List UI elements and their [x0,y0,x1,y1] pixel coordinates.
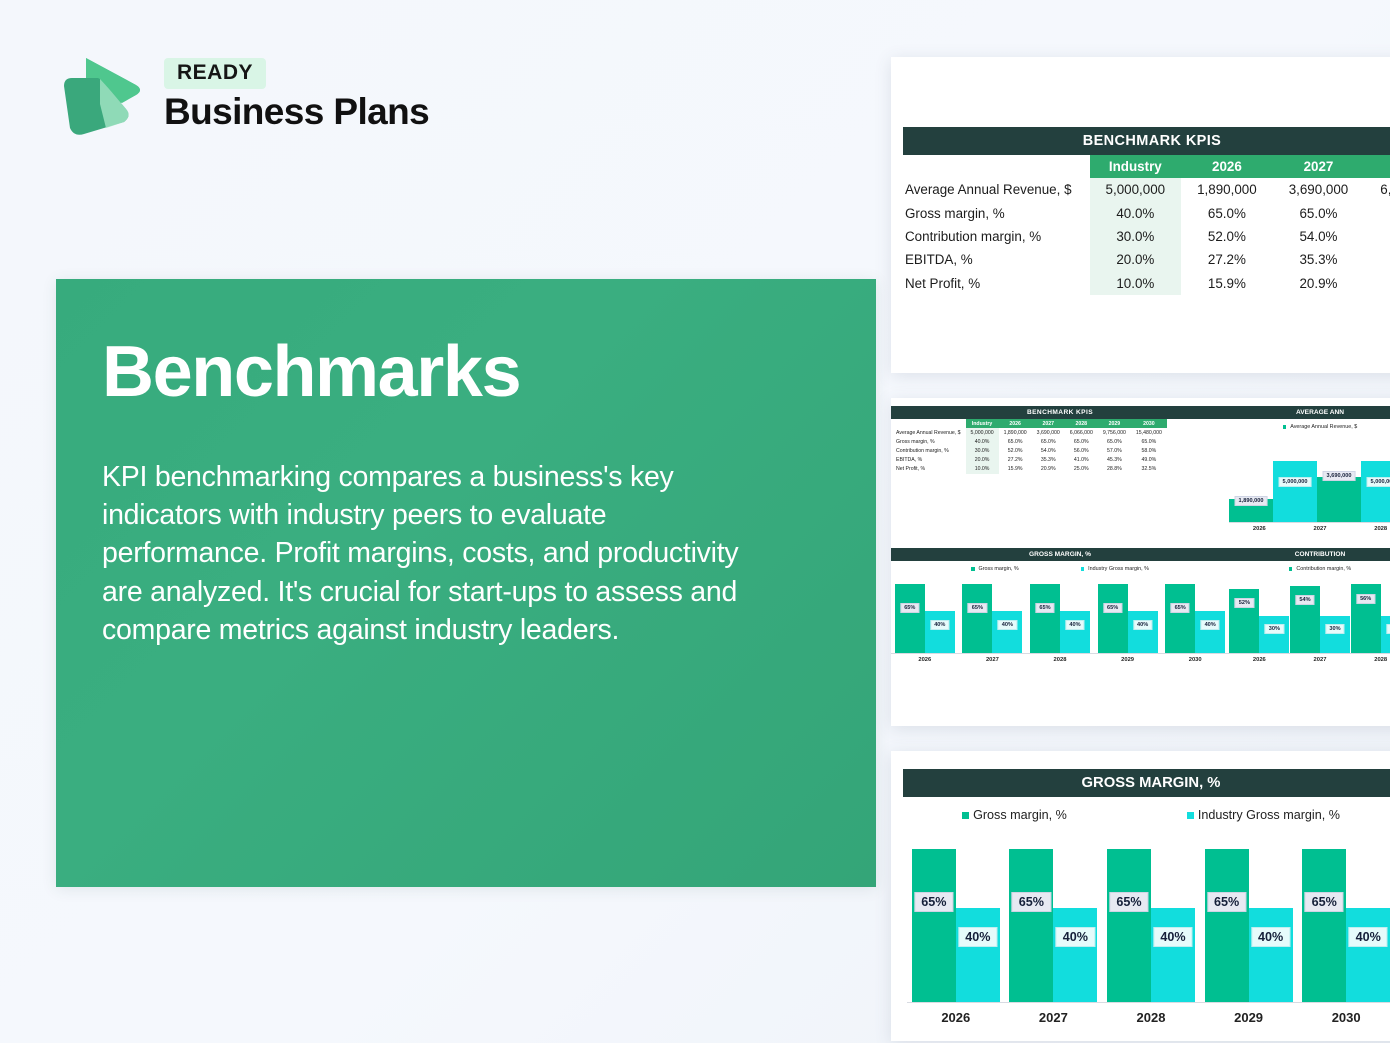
row-label: Net Profit, % [903,272,1090,295]
chart-title: GROSS MARGIN, % [891,548,1229,561]
brand-logo[interactable]: READY Business Plans [56,52,429,138]
bar-company: 65% [962,584,992,653]
dashboard-card[interactable]: BENCHMARK KPIS Industry20262027202820292… [891,398,1390,726]
table-cell: 10.0% [1090,272,1182,295]
bar-company: 65% [895,584,925,653]
bar-group: 65%40% [1008,849,1098,1002]
legend-item: Contribution margin, % [1289,566,1351,572]
chart-legend: Contribution margin, % [1229,566,1390,572]
row-label: Net Profit, % [891,465,966,474]
legend-swatch-industry [1081,567,1085,571]
table-row: Gross margin, %40.0%65.0%65.0%65.0%65.0%… [891,437,1167,446]
bar-industry: 40% [992,611,1022,653]
bar-data-label: 65% [1171,603,1190,613]
bar-data-label: 56% [1356,594,1375,604]
table-cell: 20.9% [1273,272,1365,295]
bar-company: 65% [1302,849,1346,1002]
table-row: Net Profit, %10.0%15.9%20.9%25.0%28.8%32… [891,465,1167,474]
bar-data-label: 40% [958,927,997,947]
table-cell: 56.0% [1065,446,1098,455]
table-cell: 6,066,000 [1065,428,1098,437]
table-row: Contribution margin, %30.0%52.0%54.0%56.… [891,446,1167,455]
chart-legend: Gross margin, % Industry Gross margin, % [891,566,1229,572]
bar-data-label: 30% [1265,624,1284,634]
chart-bars: 52%30%54%30%56%30% [1229,579,1390,653]
bar-industry: 40% [956,908,1000,1002]
axis-tick-label: 2028 [1350,526,1390,532]
legend-item: Average Annual Revenue, $ [1283,424,1358,430]
table-cell: 65.0% [1273,201,1365,224]
bar-company: 54% [1290,586,1320,653]
table-cell: 3,690,000 [1273,178,1365,201]
mini-table-title: BENCHMARK KPIS [891,406,1229,419]
chart-title: GROSS MARGIN, % [903,769,1390,797]
table-cell: 30.0% [1090,225,1182,248]
bar-industry: 40% [925,611,955,653]
chart-legend: Average Annual Revenue, $ [1229,424,1390,430]
bar-data-label: 40% [930,620,949,630]
axis-tick-label: 2030 [1164,657,1226,663]
bar-group: 1,890,0005,000,000 [1229,461,1317,522]
table-cell: 27.2% [999,456,1032,465]
benchmark-kpis-card[interactable]: BENCHMARK KPIS Industry202620272028 Aver… [891,57,1390,373]
table-cell: 27.2% [1181,248,1273,271]
table-header-row: Industry20262027202820292030 [891,419,1167,428]
bar-data-label: 40% [1133,620,1152,630]
bar-company: 65% [1009,849,1053,1002]
bar-company: 65% [1107,849,1151,1002]
axis-tick-label: 2028 [1350,657,1390,663]
chart-bars: 65%40%65%40%65%40%65%40%65%40% [891,579,1229,653]
table-corner-cell [903,155,1090,178]
table-cell: 49.0% [1131,456,1167,465]
bar-data-label: 65% [968,603,987,613]
row-label: Gross margin, % [891,437,966,446]
bar-data-label: 40% [1065,620,1084,630]
hero-panel: Benchmarks KPI benchmarking compares a b… [56,279,876,887]
bar-company: 65% [1205,849,1249,1002]
table-cell: 20.9% [1032,465,1065,474]
chart-x-axis: 20262027202820292030 [907,1002,1390,1025]
axis-tick-label: 2029 [1204,1010,1294,1025]
table-cell: 1,890,000 [1181,178,1273,201]
row-label: Average Annual Revenue, $ [903,178,1090,201]
table-cell: 32.5% [1131,465,1167,474]
legend-label: Industry Gross margin, % [1088,566,1149,572]
table-cell: 52.0% [1181,225,1273,248]
bar-data-label: 40% [998,620,1017,630]
row-label: EBITDA, % [891,456,966,465]
gross-margin-chart: GROSS MARGIN, % Gross margin, % Industry… [891,751,1390,1025]
table-cell: 65.0% [1131,437,1167,446]
bar-data-label: 30% [1325,624,1344,634]
table-cell: 41.0% [1065,456,1098,465]
legend-item: Industry Gross margin, % [1187,808,1340,822]
axis-tick-label: 2028 [1106,1010,1196,1025]
table-cell: 57.0% [1098,446,1131,455]
chart-bars: 65%40%65%40%65%40%65%40%65%40% [907,837,1390,1002]
table-cell: 1,890,000 [999,428,1032,437]
page-description: KPI benchmarking compares a business's k… [102,458,774,650]
column-header-2030[interactable]: 2030 [1131,419,1167,428]
row-label: Average Annual Revenue, $ [891,428,966,437]
table-cell: 15,480,000 [1131,428,1167,437]
mini-benchmark-kpis-table: Industry20262027202820292030 Average Ann… [891,419,1167,474]
table-row: Average Annual Revenue, $5,000,0001,890,… [891,428,1167,437]
bar-data-label: 52% [1235,598,1254,608]
brand-name: Business Plans [164,93,429,132]
bar-group: 65%40% [1301,849,1390,1002]
table-cell: 40.0% [1090,201,1182,224]
column-header-2028[interactable]: 2028 [1065,419,1098,428]
table-header-row: Industry202620272028 [903,155,1390,178]
bar-industry: 40% [1060,611,1090,653]
legend-label: Average Annual Revenue, $ [1290,424,1357,430]
legend-label: Gross margin, % [973,808,1067,822]
chart-x-axis: 202620272028 [1229,522,1390,532]
table-row: EBITDA, %20.0%27.2%35.3%41.0%45.3%49.0% [891,456,1167,465]
table-cell: 54.0% [1032,446,1065,455]
axis-tick-label: 2026 [1229,657,1290,663]
bar-industry: 5,000,000 [1361,461,1390,522]
table-cell: 5,000,000 [1090,178,1182,201]
table-cell: 25.0% [1065,465,1098,474]
chart-x-axis: 20262027202820292030 [891,653,1229,663]
legend-label: Contribution margin, % [1296,566,1351,572]
benchmark-kpis-table: Industry202620272028 Average Annual Reve… [903,155,1390,295]
axis-tick-label: 2028 [1029,657,1091,663]
bar-industry: 30% [1259,616,1289,653]
mini-gross-margin-chart: GROSS MARGIN, % Gross margin, % Industry… [891,548,1229,663]
table-cell: 15.9% [1181,272,1273,295]
gross-margin-chart-card[interactable]: GROSS MARGIN, % Gross margin, % Industry… [891,751,1390,1041]
table-cell: 6,066,000 [1364,178,1390,201]
table-row: Gross margin, %40.0%65.0%65.0%65.0% [903,201,1390,224]
bar-company: 3,690,000 [1317,477,1361,522]
bar-group: 65%40% [894,584,956,653]
table-title: BENCHMARK KPIS [903,127,1390,155]
table-cell: 41.0% [1364,248,1390,271]
chart-bars: 1,890,0005,000,0003,690,0005,000,0006,06… [1229,437,1390,522]
table-cell: 25.0% [1364,272,1390,295]
table-row: Average Annual Revenue, $5,000,0001,890,… [903,178,1390,201]
table-cell: 65.0% [999,437,1032,446]
row-label: Gross margin, % [903,201,1090,224]
bar-industry: 40% [1151,908,1195,1002]
bar-company: 65% [1030,584,1060,653]
bar-group: 3,690,0005,000,000 [1317,461,1390,522]
bar-industry: 40% [1053,908,1097,1002]
bar-group: 65%40% [1029,584,1091,653]
bar-group: 65%40% [1164,584,1226,653]
legend-swatch-company [1289,567,1293,571]
table-cell: 65.0% [1032,437,1065,446]
column-header-2026[interactable]: 2026 [1181,155,1273,178]
chart-legend: Gross margin, % Industry Gross margin, % [891,808,1390,822]
axis-tick-label: 2026 [894,657,956,663]
table-cell: 54.0% [1273,225,1365,248]
table-cell: 65.0% [1364,201,1390,224]
row-label: Contribution margin, % [891,446,966,455]
legend-label: Gross margin, % [979,566,1019,572]
bar-group: 54%30% [1290,586,1351,653]
table-cell: 5,000,000 [966,428,999,437]
chart-title: CONTRIBUTION [1229,548,1390,561]
bar-company: 1,890,000 [1229,499,1273,522]
table-cell: 10.0% [966,465,999,474]
bar-industry: 40% [1195,611,1225,653]
axis-tick-label: 2027 [1290,657,1351,663]
bar-data-label: 5,000,000 [1367,477,1390,487]
table-cell: 15.9% [999,465,1032,474]
bar-data-label: 54% [1295,595,1314,605]
row-label: EBITDA, % [903,248,1090,271]
bar-industry: 40% [1128,611,1158,653]
chart-title: AVERAGE ANN [1229,406,1390,419]
table-cell: 20.0% [1090,248,1182,271]
bar-data-label: 5,000,000 [1279,477,1312,487]
table-cell: 20.0% [966,456,999,465]
table-row: Contribution margin, %30.0%52.0%54.0%56.… [903,225,1390,248]
column-header-industry[interactable]: Industry [1090,155,1182,178]
legend-item: Gross margin, % [971,566,1019,572]
bar-company: 65% [1098,584,1128,653]
bar-data-label: 65% [1035,603,1054,613]
axis-tick-label: 2026 [1229,526,1290,532]
table-row: EBITDA, %20.0%27.2%35.3%41.0% [903,248,1390,271]
bar-data-label: 40% [1201,620,1220,630]
table-cell: 52.0% [999,446,1032,455]
column-header-2029[interactable]: 2029 [1098,419,1131,428]
axis-tick-label: 2027 [961,657,1023,663]
axis-tick-label: 2027 [1008,1010,1098,1025]
bar-data-label: 40% [1153,927,1192,947]
bar-company: 56% [1351,584,1381,653]
bar-industry: 40% [1249,908,1293,1002]
table-cell: 65.0% [1181,201,1273,224]
table-cell: 35.3% [1273,248,1365,271]
bar-data-label: 3,690,000 [1323,471,1356,481]
bar-data-label: 40% [1056,927,1095,947]
column-header-2027[interactable]: 2027 [1032,419,1065,428]
play-triangle-logo-icon [56,52,140,138]
bar-group: 65%40% [1204,849,1294,1002]
mini-contribution-margin-chart: CONTRIBUTION Contribution margin, % 52%3… [1229,548,1390,663]
column-header-industry[interactable]: Industry [966,419,999,428]
legend-swatch-company [962,812,969,819]
table-cell: 45.3% [1098,456,1131,465]
bar-data-label: 65% [1305,892,1344,912]
table-cell: 3,690,000 [1032,428,1065,437]
legend-label: Industry Gross margin, % [1198,808,1340,822]
legend-item: Industry Gross margin, % [1081,566,1149,572]
column-header-2027[interactable]: 2027 [1273,155,1365,178]
row-label: Contribution margin, % [903,225,1090,248]
table-row: Net Profit, %10.0%15.9%20.9%25.0% [903,272,1390,295]
legend-item: Gross margin, % [962,808,1067,822]
legend-swatch-industry [1187,812,1194,819]
bar-group: 65%40% [1106,849,1196,1002]
benchmark-kpis-sheet: BENCHMARK KPIS Industry202620272028 Aver… [891,57,1390,295]
mini-average-annual-revenue-chart: AVERAGE ANN Average Annual Revenue, $ 1,… [1229,406,1390,532]
bar-data-label: 1,890,000 [1235,496,1268,506]
bar-industry: 40% [1346,908,1390,1002]
bar-data-label: 65% [914,892,953,912]
bar-group: 65%40% [961,584,1023,653]
bar-data-label: 65% [1012,892,1051,912]
legend-swatch-company [1283,425,1287,429]
bar-data-label: 40% [1251,927,1290,947]
table-corner-cell [891,419,966,428]
axis-tick-label: 2026 [911,1010,1001,1025]
table-cell: 9,756,000 [1098,428,1131,437]
bar-industry: 30% [1320,616,1350,653]
axis-tick-label: 2029 [1097,657,1159,663]
table-cell: 30.0% [966,446,999,455]
page-title: Benchmarks [102,335,816,411]
column-header-2026[interactable]: 2026 [999,419,1032,428]
table-cell: 58.0% [1131,446,1167,455]
bar-data-label: 40% [1349,927,1388,947]
bar-company: 65% [1165,584,1195,653]
bar-data-label: 65% [900,603,919,613]
bar-group: 56%30% [1350,584,1390,653]
bar-company: 52% [1229,589,1259,653]
axis-tick-label: 2027 [1290,526,1351,532]
bar-data-label: 65% [1207,892,1246,912]
table-cell: 40.0% [966,437,999,446]
bar-industry: 30% [1381,616,1390,653]
bar-group: 65%40% [911,849,1001,1002]
bar-data-label: 65% [1109,892,1148,912]
bar-company: 65% [912,849,956,1002]
table-cell: 35.3% [1032,456,1065,465]
mini-benchmark-kpis-sheet: BENCHMARK KPIS Industry20262027202820292… [891,406,1229,474]
bar-industry: 5,000,000 [1273,461,1317,522]
column-header-2028[interactable]: 2028 [1364,155,1390,178]
chart-x-axis: 202620272028 [1229,653,1390,663]
bar-data-label: 65% [1103,603,1122,613]
table-cell: 28.8% [1098,465,1131,474]
bar-data-label: 30% [1386,624,1390,634]
brand-badge-ready: READY [164,58,266,89]
bar-group: 52%30% [1229,589,1290,653]
table-cell: 65.0% [1065,437,1098,446]
bar-group: 65%40% [1097,584,1159,653]
table-cell: 56.0% [1364,225,1390,248]
legend-swatch-company [971,567,975,571]
table-cell: 65.0% [1098,437,1131,446]
axis-tick-label: 2030 [1301,1010,1390,1025]
